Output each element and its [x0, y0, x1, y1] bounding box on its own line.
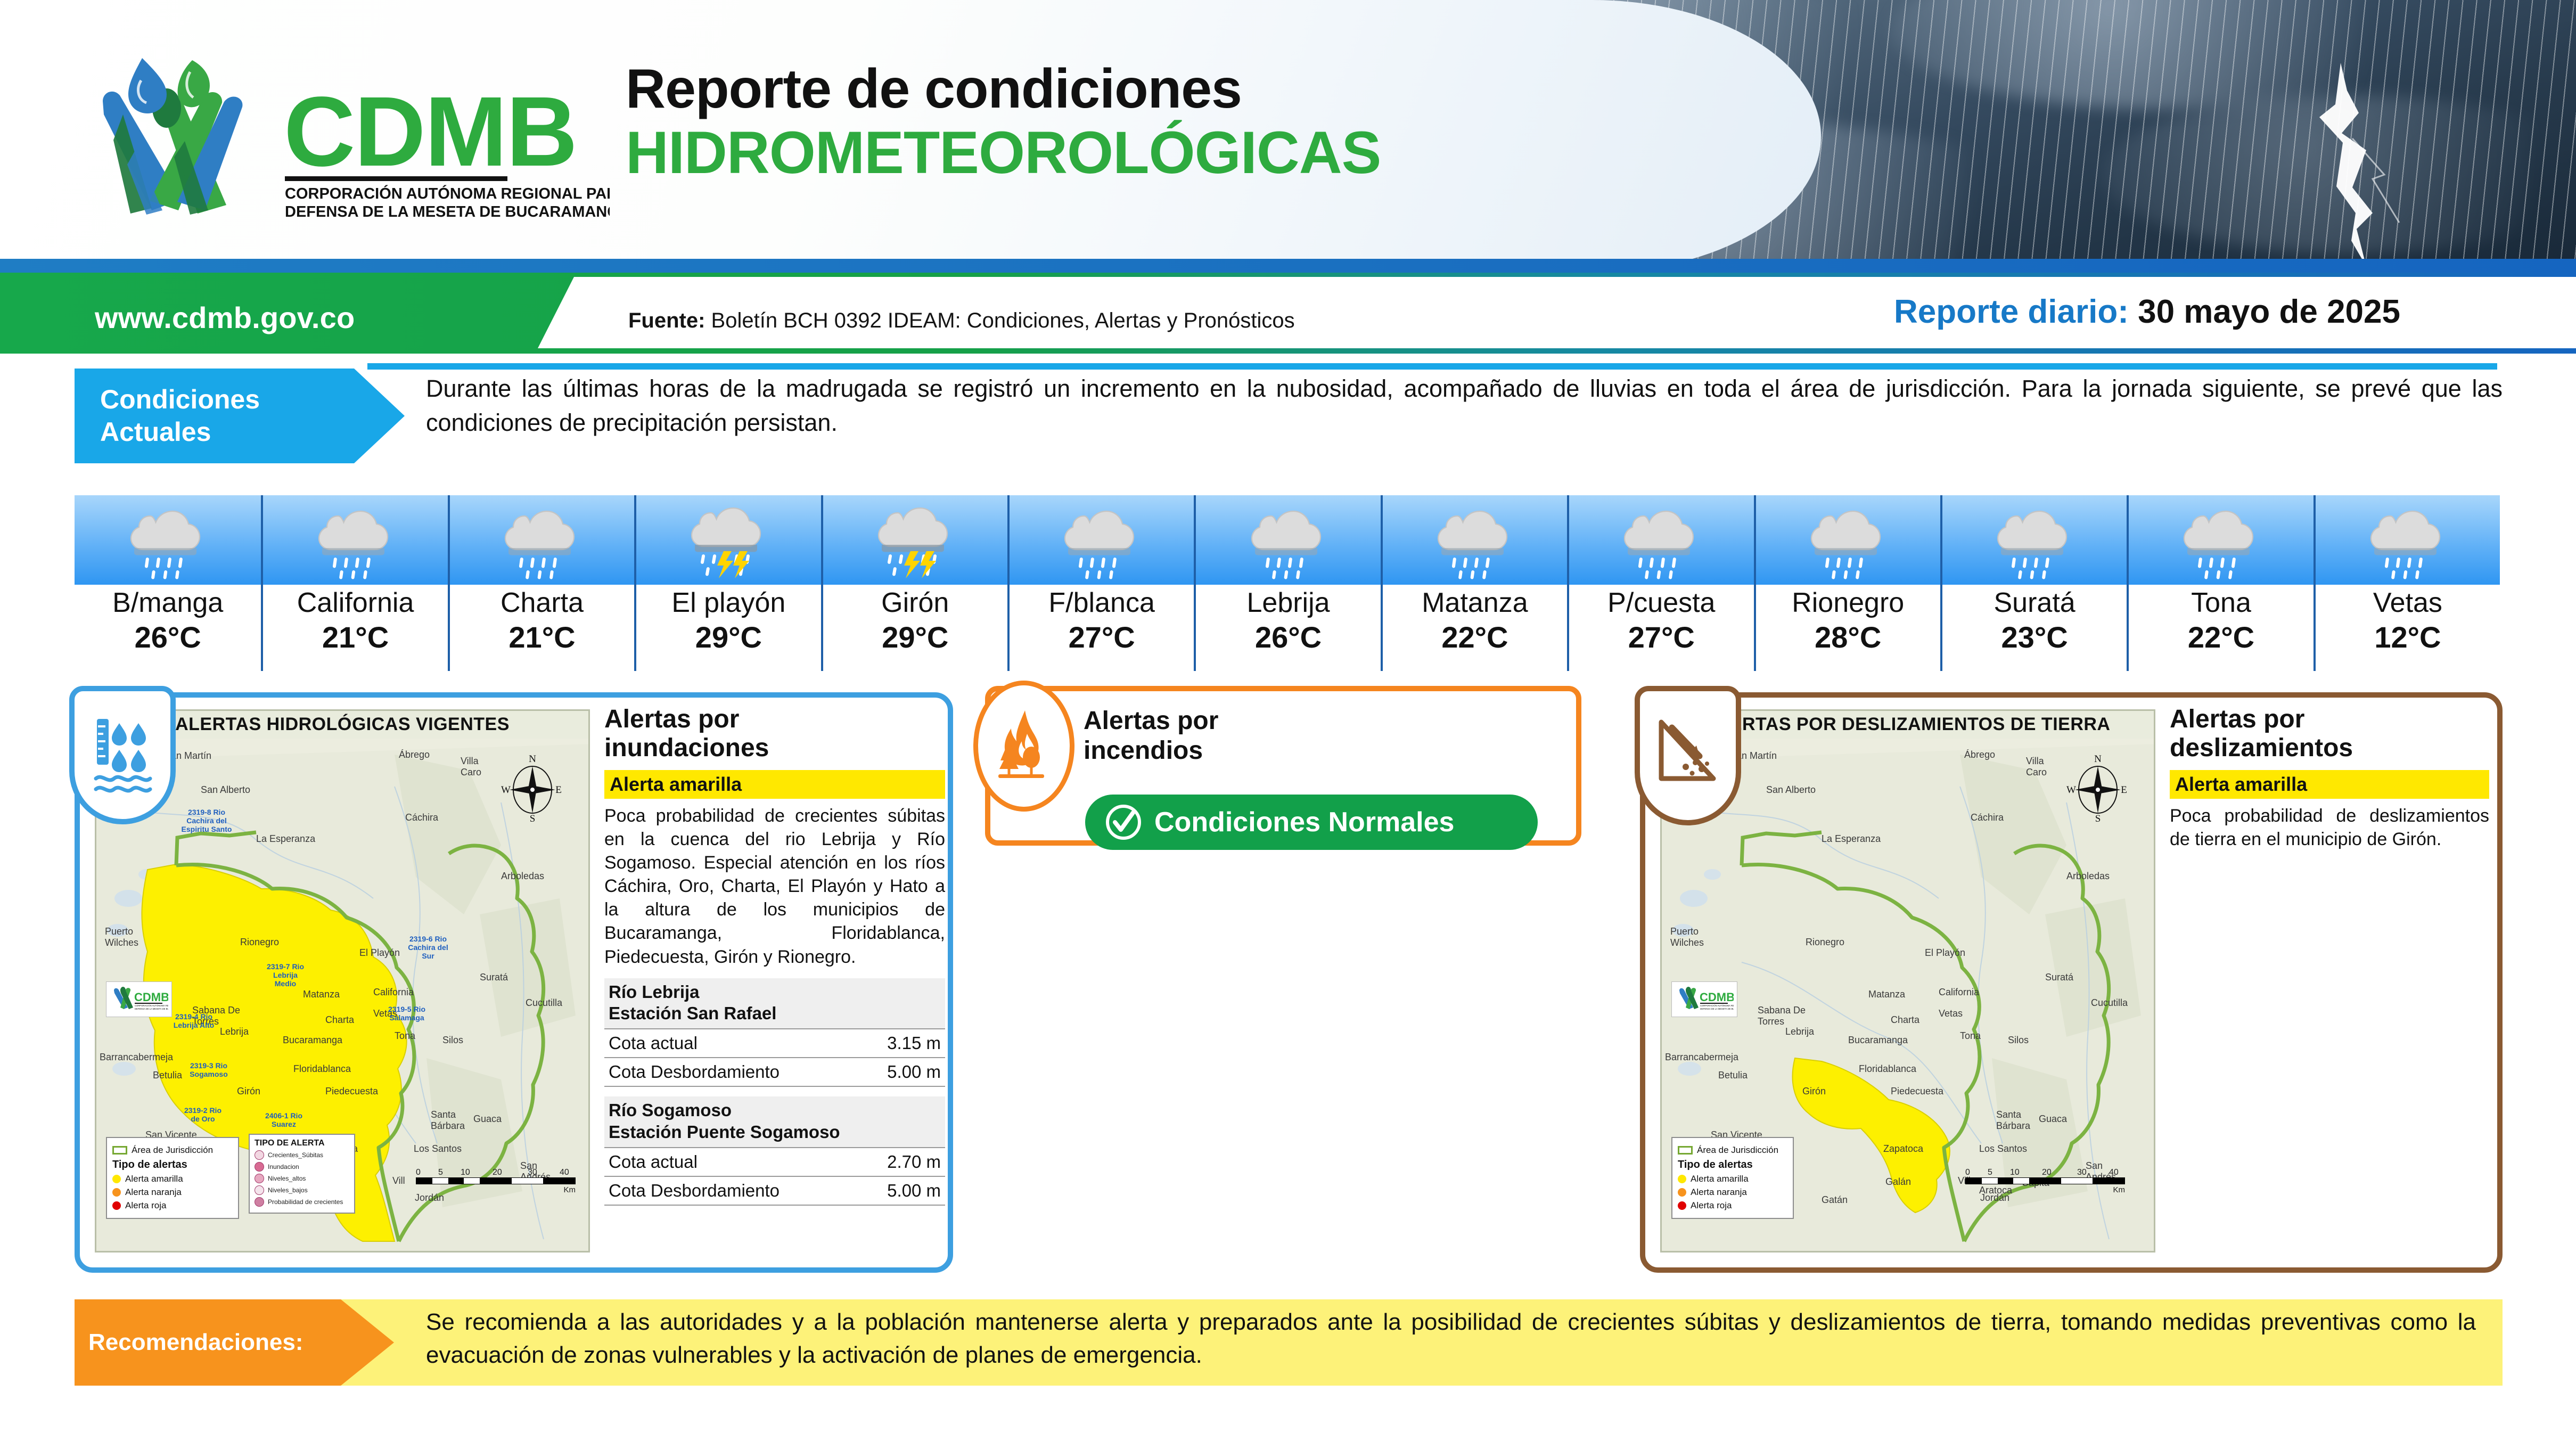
red-alert-dot	[1678, 1201, 1686, 1210]
weather-city: Girón	[881, 587, 949, 619]
map-legend: Área de Jurisdicción Tipo de alertas Ale…	[106, 1137, 239, 1219]
weather-label-area: Lebrija26°C	[1194, 585, 1380, 671]
weather-temp: 26°C	[135, 619, 201, 655]
jurisdiction-swatch	[112, 1146, 127, 1155]
weather-cell: Charta21°C	[448, 495, 634, 671]
map-alert-type-legend: TIPO DE ALERTA Crecientes_Súbitas Inunda…	[249, 1134, 355, 1214]
recommendations-tag-label: Recomendaciones:	[88, 1329, 303, 1356]
weather-temp: 22°C	[1441, 619, 1508, 655]
header-blue-band	[0, 259, 2576, 273]
legend-type-yellow-label: Alerta amarilla	[1691, 1174, 1749, 1184]
map-legend: Área de Jurisdicción Tipo de alertas Ale…	[1671, 1137, 1794, 1219]
weather-cell: Suratá23°C	[1940, 495, 2127, 671]
flood-title-line1: Alertas por	[604, 705, 739, 733]
fire-title-line1: Alertas por	[1084, 707, 1218, 735]
weather-cell: Vetas12°C	[2314, 495, 2500, 671]
alert-type-label: Probabilidad de crecientes	[268, 1198, 343, 1206]
station-row: Cota Desbordamiento 5.00 m	[604, 1177, 945, 1206]
rain-cloud-icon	[1435, 500, 1515, 580]
source-label: Fuente:	[628, 309, 705, 332]
rain-cloud-icon	[2181, 500, 2261, 580]
map-cdmb-logo: CDMB CORPORACIÓN AUTÓNOMA REGIONAL PARA …	[106, 981, 172, 1017]
weather-icon-area	[75, 495, 261, 585]
svg-text:N: N	[529, 754, 536, 765]
svg-text:CDMB: CDMB	[134, 990, 168, 1004]
rain-cloud-icon	[1808, 500, 1888, 580]
weather-city: California	[297, 587, 414, 619]
legend-type-yellow: Alerta amarilla	[112, 1174, 233, 1184]
title-line-1: Reporte de condiciones	[626, 61, 1381, 117]
hydrological-map-canvas: San Martín San Alberto Ábrego VillaCaro …	[96, 739, 588, 1252]
landslide-alert-body: Poca probabilidad de deslizamientos de t…	[2170, 804, 2489, 851]
station-row-value: 5.00 m	[887, 1181, 941, 1201]
landslide-title-line2: deslizamientos	[2170, 734, 2353, 762]
rain-cloud-icon	[316, 500, 396, 580]
weather-icon-area	[1381, 495, 1567, 585]
lightning-icon	[2262, 53, 2422, 266]
legend-jurisdiction-label: Área de Jurisdicción	[1697, 1145, 1778, 1156]
page-header: CDMB CORPORACIÓN AUTÓNOMA REGIONAL PARA …	[0, 0, 2576, 273]
landslide-map-canvas: San Martín San Alberto Ábrego VillaCaro …	[1662, 739, 2154, 1252]
legend-types-title: Tipo de alertas	[112, 1159, 233, 1171]
weather-icon-area	[634, 495, 821, 585]
fire-panel-title: Alertas por incendios	[1084, 706, 1218, 765]
conditions-tag: Condiciones Actuales	[75, 369, 405, 463]
svg-text:DEFENSA DE LA MESETA DE BUCARA: DEFENSA DE LA MESETA DE BUCARAMANGA	[1700, 1008, 1734, 1010]
report-title: Reporte de condiciones HIDROMETEOROLÓGIC…	[626, 61, 1381, 185]
weather-icon-area	[1194, 495, 1380, 585]
station-row: Cota actual 3.15 m	[604, 1029, 945, 1058]
weather-city: Suratá	[1993, 587, 2075, 619]
weather-label-area: P/cuesta27°C	[1567, 585, 1753, 671]
legend-type-orange-label: Alerta naranja	[125, 1187, 182, 1198]
svg-text:E: E	[555, 784, 562, 796]
logo-subtitle-line2: DEFENSA DE LA MESETA DE BUCARAMANGA	[285, 203, 610, 220]
weather-city: Matanza	[1422, 587, 1528, 619]
legend-type-yellow: Alerta amarilla	[1678, 1174, 1787, 1184]
legend-type-red: Alerta roja	[1678, 1200, 1787, 1211]
legend-type-orange: Alerta naranja	[1678, 1187, 1787, 1198]
compass-rose-icon: N S E W	[501, 754, 564, 825]
conditions-underline	[367, 363, 2497, 370]
scale-numbers: 0510 203040	[1965, 1168, 2125, 1177]
svg-text:W: W	[2066, 784, 2076, 796]
weather-cell: F/blanca27°C	[1007, 495, 1194, 671]
logo-subtitle-line1: CORPORACIÓN AUTÓNOMA REGIONAL PARA LA	[285, 184, 610, 202]
weather-icon-area	[2127, 495, 2313, 585]
alert-type-legend-title: TIPO DE ALERTA	[255, 1139, 349, 1148]
niveles-bajos-icon	[255, 1185, 264, 1195]
thunderstorm-icon	[688, 500, 768, 580]
conditions-text: Durante las últimas horas de la madrugad…	[426, 372, 2503, 440]
weather-city: P/cuesta	[1607, 587, 1715, 619]
weather-temp: 29°C	[882, 619, 948, 655]
station-row-label: Cota actual	[609, 1033, 698, 1053]
station-header: Río Sogamoso Estación Puente Sogamoso	[604, 1096, 945, 1148]
svg-text:CDMB: CDMB	[284, 77, 577, 187]
weather-temp: 21°C	[322, 619, 389, 655]
title-line-2: HIDROMETEOROLÓGICAS	[626, 121, 1381, 185]
flood-alert-body: Poca probabilidad de crecientes súbitas …	[604, 804, 945, 969]
legend-jurisdiction-row: Área de Jurisdicción	[112, 1145, 233, 1156]
svg-text:N: N	[2094, 754, 2102, 765]
alert-type-row: Inundacion	[255, 1162, 349, 1172]
daily-report-date: Reporte diario: 30 mayo de 2025	[1894, 293, 2400, 331]
inundacion-icon	[255, 1162, 264, 1172]
svg-text:E: E	[2121, 784, 2127, 796]
rain-cloud-icon	[1249, 500, 1328, 580]
weather-label-area: Vetas12°C	[2314, 585, 2500, 671]
weather-icon-area	[1567, 495, 1753, 585]
station-name: Estación Puente Sogamoso	[609, 1122, 840, 1142]
landslide-text-column: Alertas por deslizamientos Alerta amaril…	[2170, 705, 2489, 851]
landslide-badge-icon-wrap	[1635, 686, 1741, 825]
source-line: Fuente: Boletín BCH 0392 IDEAM: Condicio…	[628, 309, 1295, 333]
weather-cell: Lebrija26°C	[1194, 495, 1380, 671]
rain-cloud-icon	[1995, 500, 2074, 580]
flood-title-line2: inundaciones	[604, 734, 769, 762]
weather-temp: 22°C	[2188, 619, 2254, 655]
weather-label-area: B/manga26°C	[75, 585, 261, 671]
cdmb-logo: CDMB CORPORACIÓN AUTÓNOMA REGIONAL PARA …	[72, 51, 610, 226]
current-conditions-row: Condiciones Actuales Durante las últimas…	[0, 363, 2576, 464]
map-scale-bar: 0510 203040 Km	[1965, 1168, 2125, 1194]
weather-city: Rionegro	[1792, 587, 1904, 619]
weather-label-area: F/blanca27°C	[1007, 585, 1194, 671]
landslide-title-line1: Alertas por	[2170, 705, 2304, 733]
station-row: Cota actual 2.70 m	[604, 1148, 945, 1177]
weather-city: F/blanca	[1048, 587, 1154, 619]
legend-type-red-label: Alerta roja	[1691, 1200, 1732, 1211]
weather-cell: Girón29°C	[821, 495, 1007, 671]
weather-cell: El playón29°C	[634, 495, 821, 671]
orange-alert-dot	[1678, 1188, 1686, 1197]
website-url[interactable]: www.cdmb.gov.co	[95, 300, 355, 335]
weather-city: Charta	[501, 587, 584, 619]
weather-label-area: Girón29°C	[821, 585, 1007, 671]
weather-temp: 21°C	[508, 619, 575, 655]
scale-unit: Km	[1965, 1185, 2125, 1194]
weather-city: Tona	[2191, 587, 2251, 619]
conditions-tag-line2: Actuales	[100, 416, 405, 448]
rain-cloud-icon	[128, 500, 208, 580]
svg-text:W: W	[501, 784, 511, 796]
scale-bar-graphic	[416, 1177, 576, 1184]
weather-icon-area	[1940, 495, 2127, 585]
svg-text:CORPORACIÓN AUTÓNOMA REGIONAL: CORPORACIÓN AUTÓNOMA REGIONAL PARA LA	[135, 1004, 168, 1007]
fire-title-line2: incendios	[1084, 736, 1203, 765]
weather-city: B/manga	[112, 587, 223, 619]
flood-badge-icon-wrap	[69, 686, 176, 824]
alert-type-label: Inundacion	[268, 1163, 299, 1170]
svg-text:CDMB: CDMB	[1700, 990, 1734, 1004]
legend-type-orange: Alerta naranja	[112, 1187, 233, 1198]
rain-cloud-icon	[502, 500, 582, 580]
map-cdmb-logo: CDMB CORPORACIÓN AUTÓNOMA REGIONAL PARA …	[1671, 981, 1737, 1017]
landslide-alerts-panel: ALERTAS POR DESLIZAMIENTOS DE TIERRA	[1640, 692, 2503, 1273]
scale-unit: Km	[416, 1185, 576, 1194]
orange-alert-dot	[112, 1188, 121, 1197]
alert-type-label: Crecientes_Súbitas	[268, 1151, 323, 1159]
jurisdiction-swatch	[1678, 1146, 1693, 1155]
flood-text-column: Alertas por inundaciones Alerta amarilla…	[604, 705, 945, 1206]
station-header: Río Lebrija Estación San Rafael	[604, 978, 945, 1030]
scale-bar-graphic	[1965, 1177, 2125, 1184]
fire-status-badge: Condiciones Normales	[1085, 795, 1538, 850]
weather-cell: P/cuesta27°C	[1567, 495, 1753, 671]
station-block-lebrija: Río Lebrija Estación San Rafael Cota act…	[604, 978, 945, 1087]
conditions-tag-line1: Condiciones	[100, 383, 405, 416]
station-block-sogamoso: Río Sogamoso Estación Puente Sogamoso Co…	[604, 1096, 945, 1206]
station-row-label: Cota Desbordamiento	[609, 1181, 780, 1201]
station-row-value: 2.70 m	[887, 1152, 941, 1172]
weather-temp: 26°C	[1255, 619, 1322, 655]
rain-cloud-icon	[1621, 500, 1701, 580]
fire-status-text: Condiciones Normales	[1154, 806, 1454, 838]
weather-label-area: Rionegro28°C	[1754, 585, 1940, 671]
station-row: Cota Desbordamiento 5.00 m	[604, 1058, 945, 1087]
weather-icon-area	[448, 495, 634, 585]
water-level-gauge-icon	[89, 715, 155, 796]
recommendations-bar: Recomendaciones: Se recomienda a las aut…	[75, 1299, 2503, 1386]
crecientes-subitas-icon	[255, 1150, 264, 1160]
recommendations-tag: Recomendaciones:	[75, 1299, 394, 1386]
landslide-alert-level-badge: Alerta amarilla	[2170, 770, 2489, 799]
forest-fire-icon	[992, 706, 1056, 786]
legend-jurisdiction-row: Área de Jurisdicción	[1678, 1145, 1787, 1156]
alert-type-row: Crecientes_Súbitas	[255, 1150, 349, 1160]
legend-type-red-label: Alerta roja	[125, 1200, 166, 1211]
alert-type-row: Niveles_bajos	[255, 1185, 349, 1195]
alert-type-label: Niveles_bajos	[268, 1186, 308, 1194]
recommendations-text: Se recomienda a las autoridades y a la p…	[426, 1306, 2476, 1372]
weather-city: Vetas	[2373, 587, 2442, 619]
weather-cell: Tona22°C	[2127, 495, 2313, 671]
weather-temp: 27°C	[1069, 619, 1135, 655]
weather-label-area: Suratá23°C	[1940, 585, 2127, 671]
svg-text:DEFENSA DE LA MESETA DE BUCARA: DEFENSA DE LA MESETA DE BUCARAMANGA	[135, 1008, 168, 1010]
landslide-panel-title: Alertas por deslizamientos	[2170, 705, 2489, 763]
probabilidad-crecientes-icon	[255, 1197, 264, 1207]
svg-text:CORPORACIÓN AUTÓNOMA REGIONAL: CORPORACIÓN AUTÓNOMA REGIONAL PARA LA	[1700, 1004, 1734, 1007]
thunderstorm-icon	[875, 500, 955, 580]
rain-cloud-icon	[2368, 500, 2448, 580]
river-name: Río Sogamoso	[609, 1100, 732, 1120]
weather-temp: 28°C	[1815, 619, 1881, 655]
weather-cell: Rionegro28°C	[1754, 495, 1940, 671]
weather-label-area: Charta21°C	[448, 585, 634, 671]
weather-temp: 12°C	[2374, 619, 2441, 655]
station-row-label: Cota actual	[609, 1152, 698, 1172]
weather-city: Lebrija	[1246, 587, 1330, 619]
red-alert-dot	[112, 1201, 121, 1210]
alert-type-label: Niveles_altos	[268, 1175, 306, 1182]
daily-report-label: Reporte diario:	[1894, 293, 2129, 330]
weather-cell: Matanza22°C	[1381, 495, 1567, 671]
flood-alerts-panel: ALERTAS HIDROLÓGICAS VIGENTES	[75, 692, 953, 1273]
niveles-altos-icon	[255, 1174, 264, 1183]
weather-temp: 23°C	[2001, 619, 2068, 655]
weather-icon-area	[1007, 495, 1194, 585]
weather-cell: B/manga26°C	[75, 495, 261, 671]
legend-type-yellow-label: Alerta amarilla	[125, 1174, 183, 1184]
station-row-label: Cota Desbordamiento	[609, 1062, 780, 1082]
weather-icon-area	[1754, 495, 1940, 585]
weather-strip: B/manga26°C California21°C	[75, 495, 2500, 671]
yellow-alert-dot	[1678, 1175, 1686, 1183]
landslide-icon	[1654, 716, 1722, 796]
weather-temp: 29°C	[695, 619, 762, 655]
compass-rose-icon: N S E W	[2066, 754, 2129, 825]
weather-icon-area	[2314, 495, 2500, 585]
fire-badge-icon-wrap	[973, 681, 1074, 812]
station-row-value: 5.00 m	[887, 1062, 941, 1082]
alert-type-row: Niveles_altos	[255, 1174, 349, 1183]
legend-type-orange-label: Alerta naranja	[1691, 1187, 1747, 1198]
rain-cloud-icon	[1062, 500, 1142, 580]
svg-text:S: S	[2095, 813, 2101, 823]
weather-label-area: Tona22°C	[2127, 585, 2313, 671]
scale-numbers: 0510 203040	[416, 1168, 576, 1177]
weather-label-area: El playón29°C	[634, 585, 821, 671]
svg-text:S: S	[530, 813, 536, 823]
yellow-alert-dot	[112, 1175, 121, 1183]
weather-label-area: California21°C	[261, 585, 447, 671]
flood-alert-level-badge: Alerta amarilla	[604, 770, 945, 799]
weather-icon-area	[821, 495, 1007, 585]
legend-types-title: Tipo de alertas	[1678, 1159, 1787, 1171]
weather-cell: California21°C	[261, 495, 447, 671]
weather-city: El playón	[671, 587, 785, 619]
legend-type-red: Alerta roja	[112, 1200, 233, 1211]
alert-type-row: Probabilidad de crecientes	[255, 1197, 349, 1207]
weather-label-area: Matanza22°C	[1381, 585, 1567, 671]
weather-temp: 27°C	[1628, 619, 1695, 655]
check-circle-icon	[1103, 802, 1144, 842]
source-value: Boletín BCH 0392 IDEAM: Condiciones, Ale…	[705, 309, 1294, 332]
station-name: Estación San Rafael	[609, 1003, 776, 1023]
legend-jurisdiction-label: Área de Jurisdicción	[132, 1145, 213, 1156]
info-bar: www.cdmb.gov.co Fuente: Boletín BCH 0392…	[0, 273, 2576, 354]
flood-panel-title: Alertas por inundaciones	[604, 705, 945, 763]
station-row-value: 3.15 m	[887, 1033, 941, 1053]
weather-icon-area	[261, 495, 447, 585]
daily-report-value: 30 mayo de 2025	[2129, 293, 2400, 330]
map-scale-bar: 0510 203040 Km	[416, 1168, 576, 1194]
river-name: Río Lebrija	[609, 982, 700, 1002]
